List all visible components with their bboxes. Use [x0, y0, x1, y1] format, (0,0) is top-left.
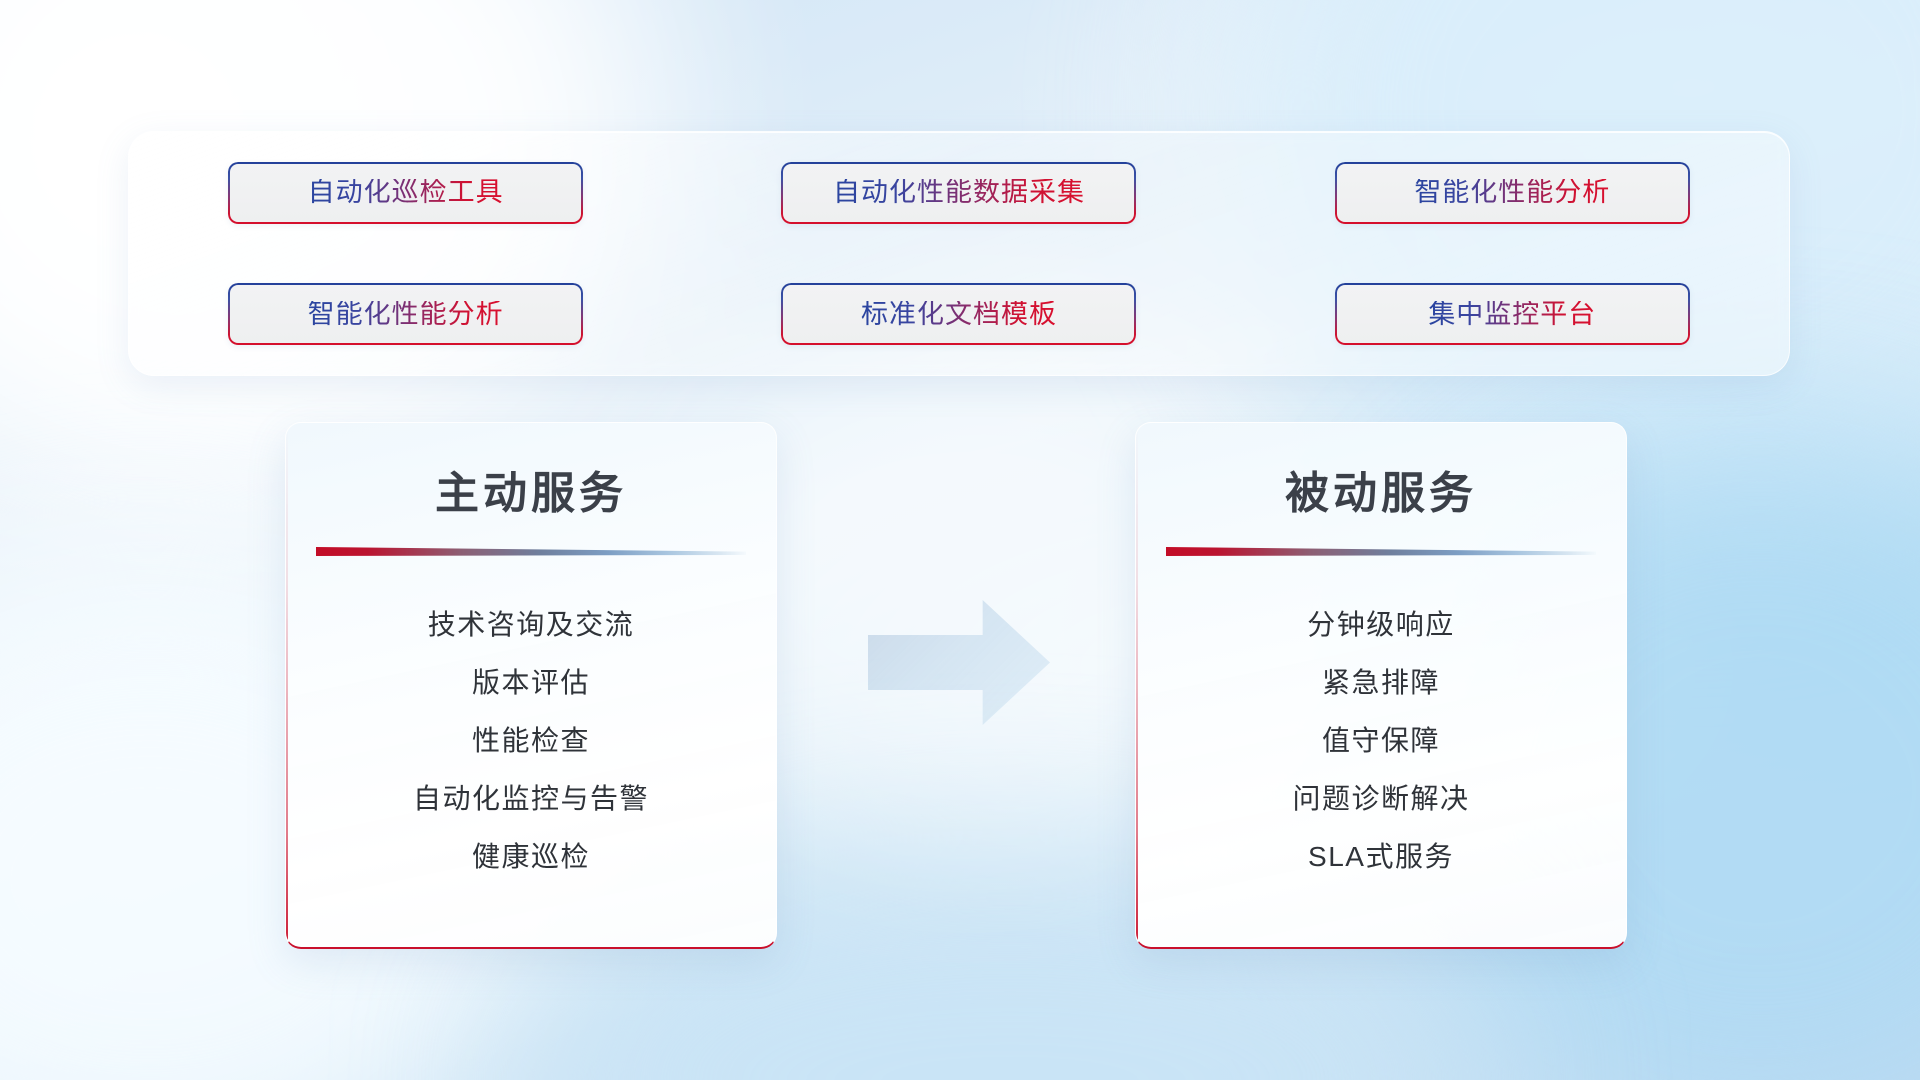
list-item: 性能检查 — [286, 712, 776, 770]
service-item-list: 分钟级响应 紧急排障 值守保障 问题诊断解决 SLA式服务 — [1136, 596, 1626, 886]
list-item: 值守保障 — [1136, 712, 1626, 770]
capability-tag[interactable]: 集中监控平台 — [1335, 283, 1690, 345]
service-card-proactive: 主动服务 技术咨询及交流 版本评估 性能检查 自动化监控与告警 健康巡检 — [285, 422, 777, 949]
service-item-list: 技术咨询及交流 版本评估 性能检查 自动化监控与告警 健康巡检 — [286, 596, 776, 886]
service-card-reactive: 被动服务 分钟级响应 紧急排障 值守保障 问题诊断解决 SLA式服务 — [1135, 422, 1627, 949]
list-item: 问题诊断解决 — [1136, 770, 1626, 828]
capability-tag[interactable]: 标准化文档模板 — [781, 283, 1136, 345]
slide-canvas: 自动化巡检工具 自动化性能数据采集 智能化性能分析 智能化性能分析 标准化文档模… — [0, 0, 1920, 1080]
capability-tag-label: 智能化性能分析 — [1414, 179, 1610, 206]
capability-tag[interactable]: 智能化性能分析 — [1335, 162, 1690, 224]
list-item: 分钟级响应 — [1136, 596, 1626, 654]
capability-tags-panel: 自动化巡检工具 自动化性能数据采集 智能化性能分析 智能化性能分析 标准化文档模… — [128, 131, 1790, 376]
capability-tags-grid: 自动化巡检工具 自动化性能数据采集 智能化性能分析 智能化性能分析 标准化文档模… — [129, 132, 1789, 375]
list-item: 版本评估 — [286, 654, 776, 712]
arrow-right-icon — [868, 600, 1050, 725]
card-divider — [316, 547, 746, 556]
list-item: 自动化监控与告警 — [286, 770, 776, 828]
capability-tag-label: 智能化性能分析 — [308, 301, 504, 328]
card-divider — [1166, 547, 1596, 556]
list-item: 健康巡检 — [286, 828, 776, 886]
capability-tag-label: 自动化性能数据采集 — [833, 179, 1085, 206]
list-item: SLA式服务 — [1136, 828, 1626, 886]
capability-tag-label: 集中监控平台 — [1428, 301, 1596, 328]
capability-tag-label: 标准化文档模板 — [861, 301, 1057, 328]
capability-tag[interactable]: 自动化性能数据采集 — [781, 162, 1136, 224]
service-card-title: 被动服务 — [1136, 457, 1626, 521]
capability-tag-label: 自动化巡检工具 — [308, 179, 504, 206]
list-item: 紧急排障 — [1136, 654, 1626, 712]
service-card-title: 主动服务 — [286, 457, 776, 521]
list-item: 技术咨询及交流 — [286, 596, 776, 654]
capability-tag[interactable]: 智能化性能分析 — [228, 283, 583, 345]
capability-tag[interactable]: 自动化巡检工具 — [228, 162, 583, 224]
